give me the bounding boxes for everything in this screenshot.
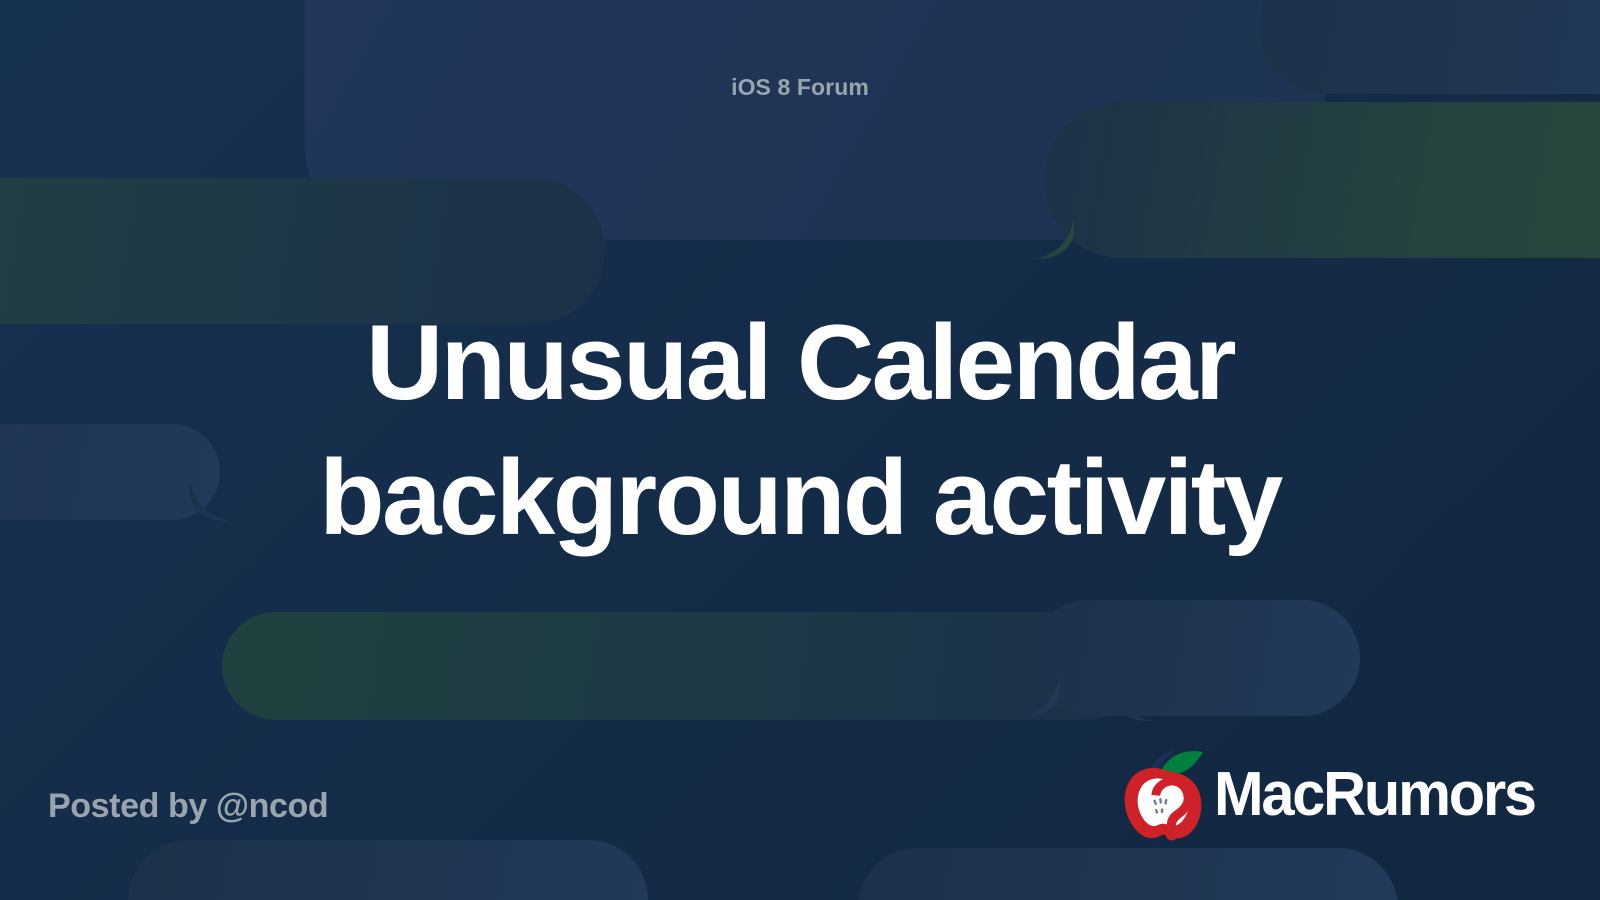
forum-label: iOS 8 Forum (0, 74, 1600, 101)
card-content: iOS 8 Forum Unusual Calendar background … (0, 0, 1600, 900)
post-author: Posted by @ncod (48, 787, 328, 826)
macrumors-apple-icon (1120, 748, 1208, 842)
post-title: Unusual Calendar background activity (140, 295, 1460, 565)
social-share-card: iOS 8 Forum Unusual Calendar background … (0, 0, 1600, 900)
macrumors-wordmark: MacRumors (1214, 764, 1535, 826)
macrumors-logo: MacRumors (1120, 748, 1548, 842)
